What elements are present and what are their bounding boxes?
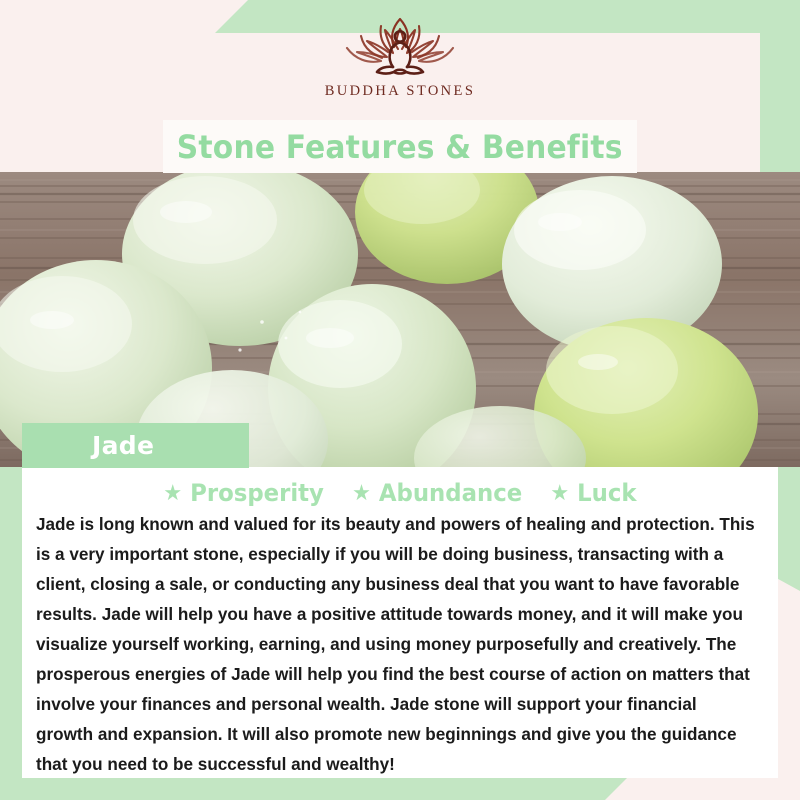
- page-title: Stone Features & Benefits: [177, 128, 623, 166]
- infographic-page: BUDDHA STONES Stone Features & Benefits: [0, 0, 800, 800]
- stone-name: Jade: [92, 431, 154, 460]
- title-banner: Stone Features & Benefits: [163, 120, 637, 173]
- benefits-row: ★ Prosperity ★ Abundance ★ Luck: [45, 467, 756, 507]
- stone-description: Jade is long known and valued for its be…: [36, 509, 757, 779]
- stone-name-banner: Jade: [22, 423, 249, 468]
- benefit-label-luck: Luck: [577, 479, 636, 507]
- star-icon: ★: [352, 481, 371, 506]
- lotus-meditation-icon: [341, 14, 459, 80]
- brand-logo: BUDDHA STONES: [0, 14, 800, 112]
- brand-name: BUDDHA STONES: [325, 83, 476, 100]
- decor-green-left-body: [0, 466, 24, 788]
- star-icon: ★: [550, 481, 569, 506]
- benefit-label-abundance: Abundance: [379, 479, 522, 507]
- content-card: ★ Prosperity ★ Abundance ★ Luck Jade is …: [22, 467, 778, 778]
- star-icon: ★: [163, 481, 182, 506]
- benefit-label-prosperity: Prosperity: [190, 479, 324, 507]
